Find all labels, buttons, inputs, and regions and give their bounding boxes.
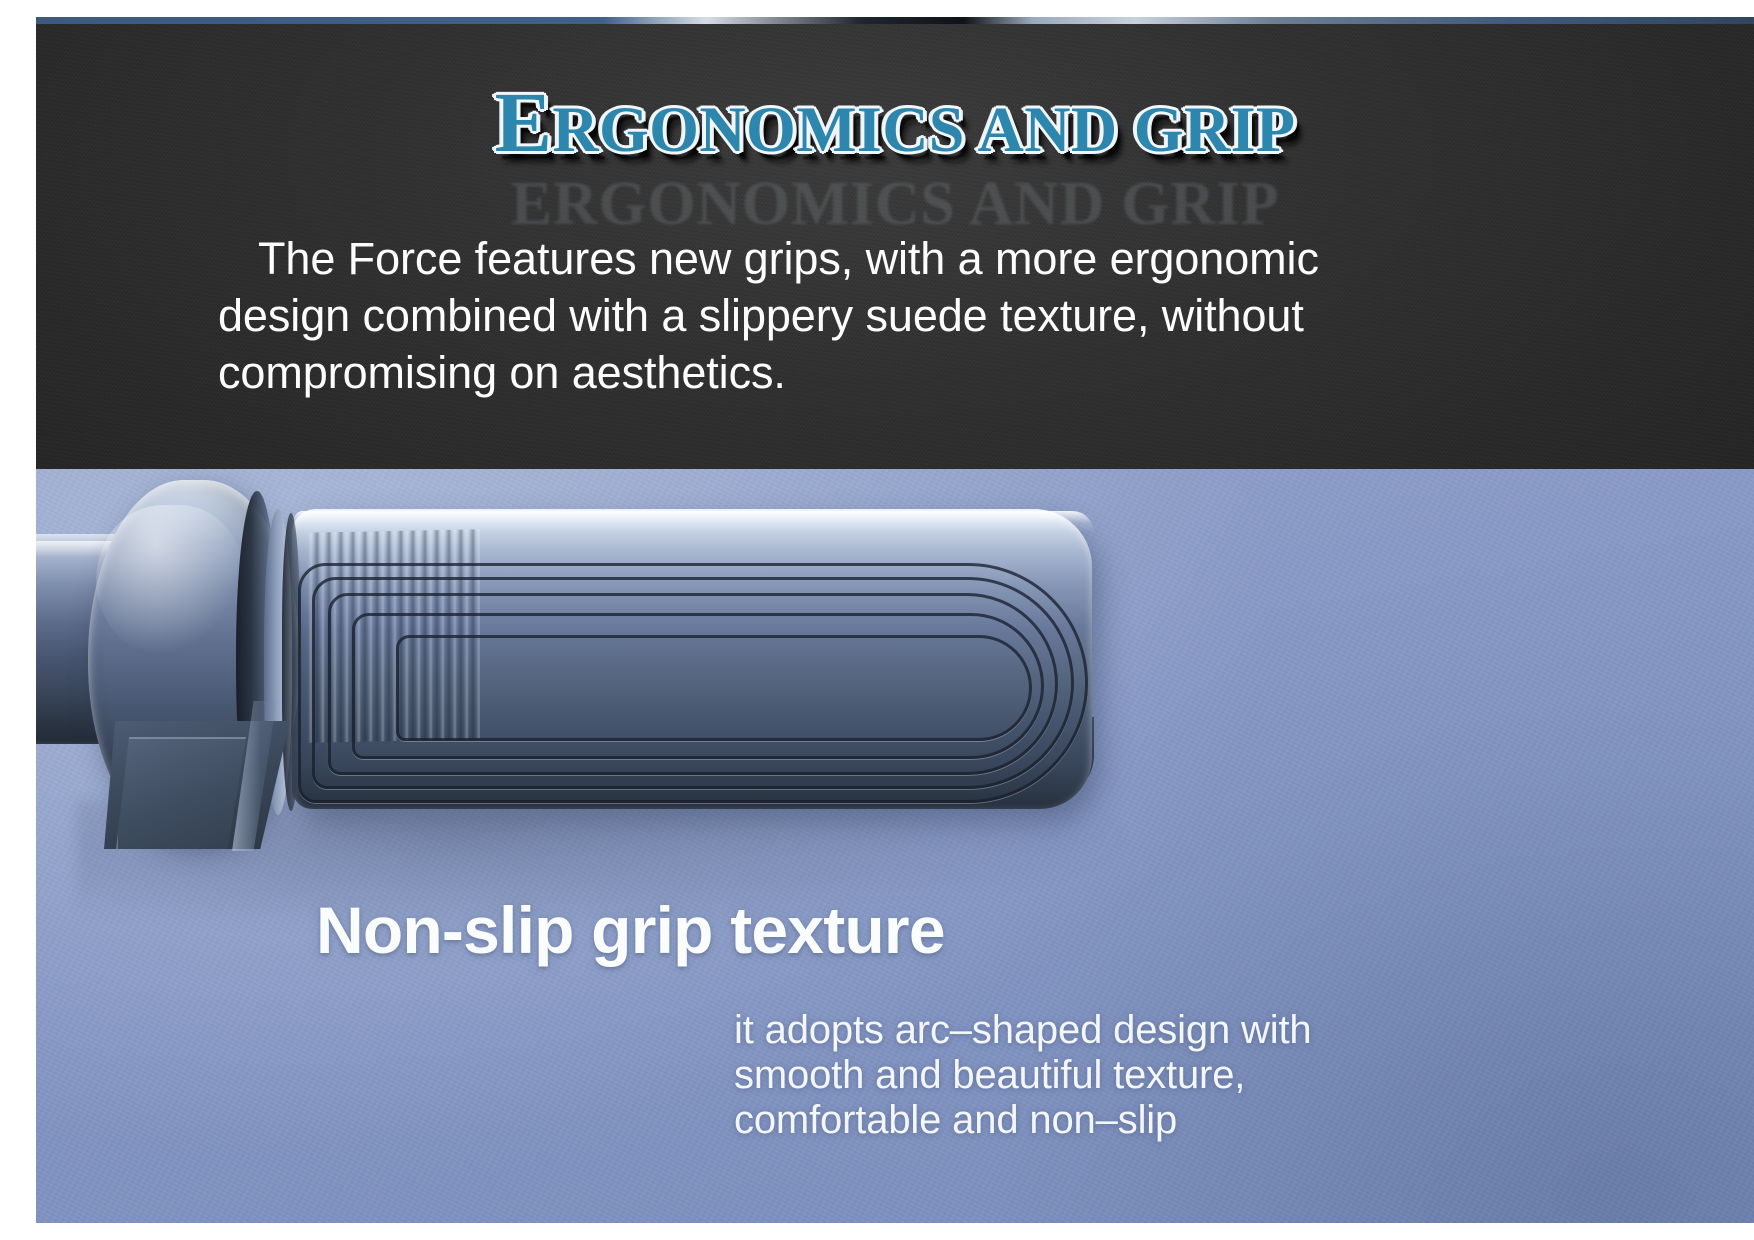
throttle-collar-sheen	[96, 505, 246, 655]
page-title-text: ERGONOMICS AND GRIP	[495, 79, 1296, 165]
photo-caption: it adopts arc–shaped design with smooth …	[734, 1008, 1311, 1142]
title-initial-cap: E	[495, 74, 553, 170]
title-small-caps: RGONOMICS AND GRIP	[552, 94, 1295, 165]
photo-caption-line-1: it adopts arc–shaped design with	[734, 1008, 1311, 1053]
photo-caption-line-2: smooth and beautiful texture,	[734, 1053, 1311, 1098]
page-title: ERGONOMICS AND GRIP	[36, 79, 1754, 165]
top-edge-sliver	[36, 17, 1754, 24]
header-body-paragraph: The Force features new grips, with a mor…	[218, 230, 1458, 401]
slide-canvas: ERGONOMICS AND GRIP ERGONOMICS AND GRIP …	[0, 0, 1754, 1240]
brake-lever-pad	[116, 737, 246, 849]
photo-heading: Non-slip grip texture	[316, 896, 945, 965]
photo-caption-line-3: comfortable and non–slip	[734, 1098, 1311, 1143]
arc-groove-5	[396, 635, 1032, 741]
header-panel: ERGONOMICS AND GRIP ERGONOMICS AND GRIP …	[36, 17, 1754, 469]
